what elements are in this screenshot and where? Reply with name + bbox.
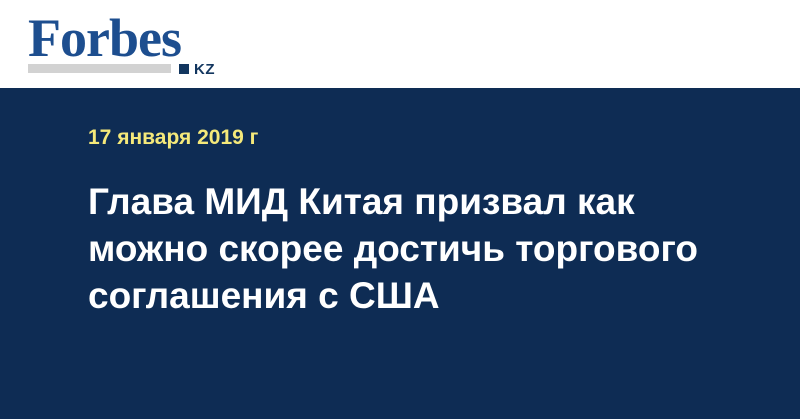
logo-kz-suffix: KZ — [194, 62, 215, 77]
square-mark-icon — [179, 64, 189, 74]
headline-line: соглашения с США — [88, 272, 708, 319]
logo-rule-divider — [28, 64, 171, 73]
headline-line: можно скорее достичь торгового — [88, 225, 708, 272]
page-title: Глава МИД Китая призвал как можно скорее… — [88, 178, 708, 319]
site-header: Forbes KZ — [0, 0, 800, 88]
forbes-kz-logo[interactable]: Forbes KZ — [28, 10, 233, 78]
headline-line: Глава МИД Китая призвал как — [88, 178, 708, 225]
hero-banner: 17 января 2019 г Глава МИД Китая призвал… — [0, 88, 800, 419]
article-card: Forbes KZ 17 января 2019 г Глава МИД Кит… — [0, 0, 800, 419]
forbes-wordmark: Forbes — [28, 10, 181, 66]
publication-date: 17 января 2019 г — [88, 126, 258, 150]
